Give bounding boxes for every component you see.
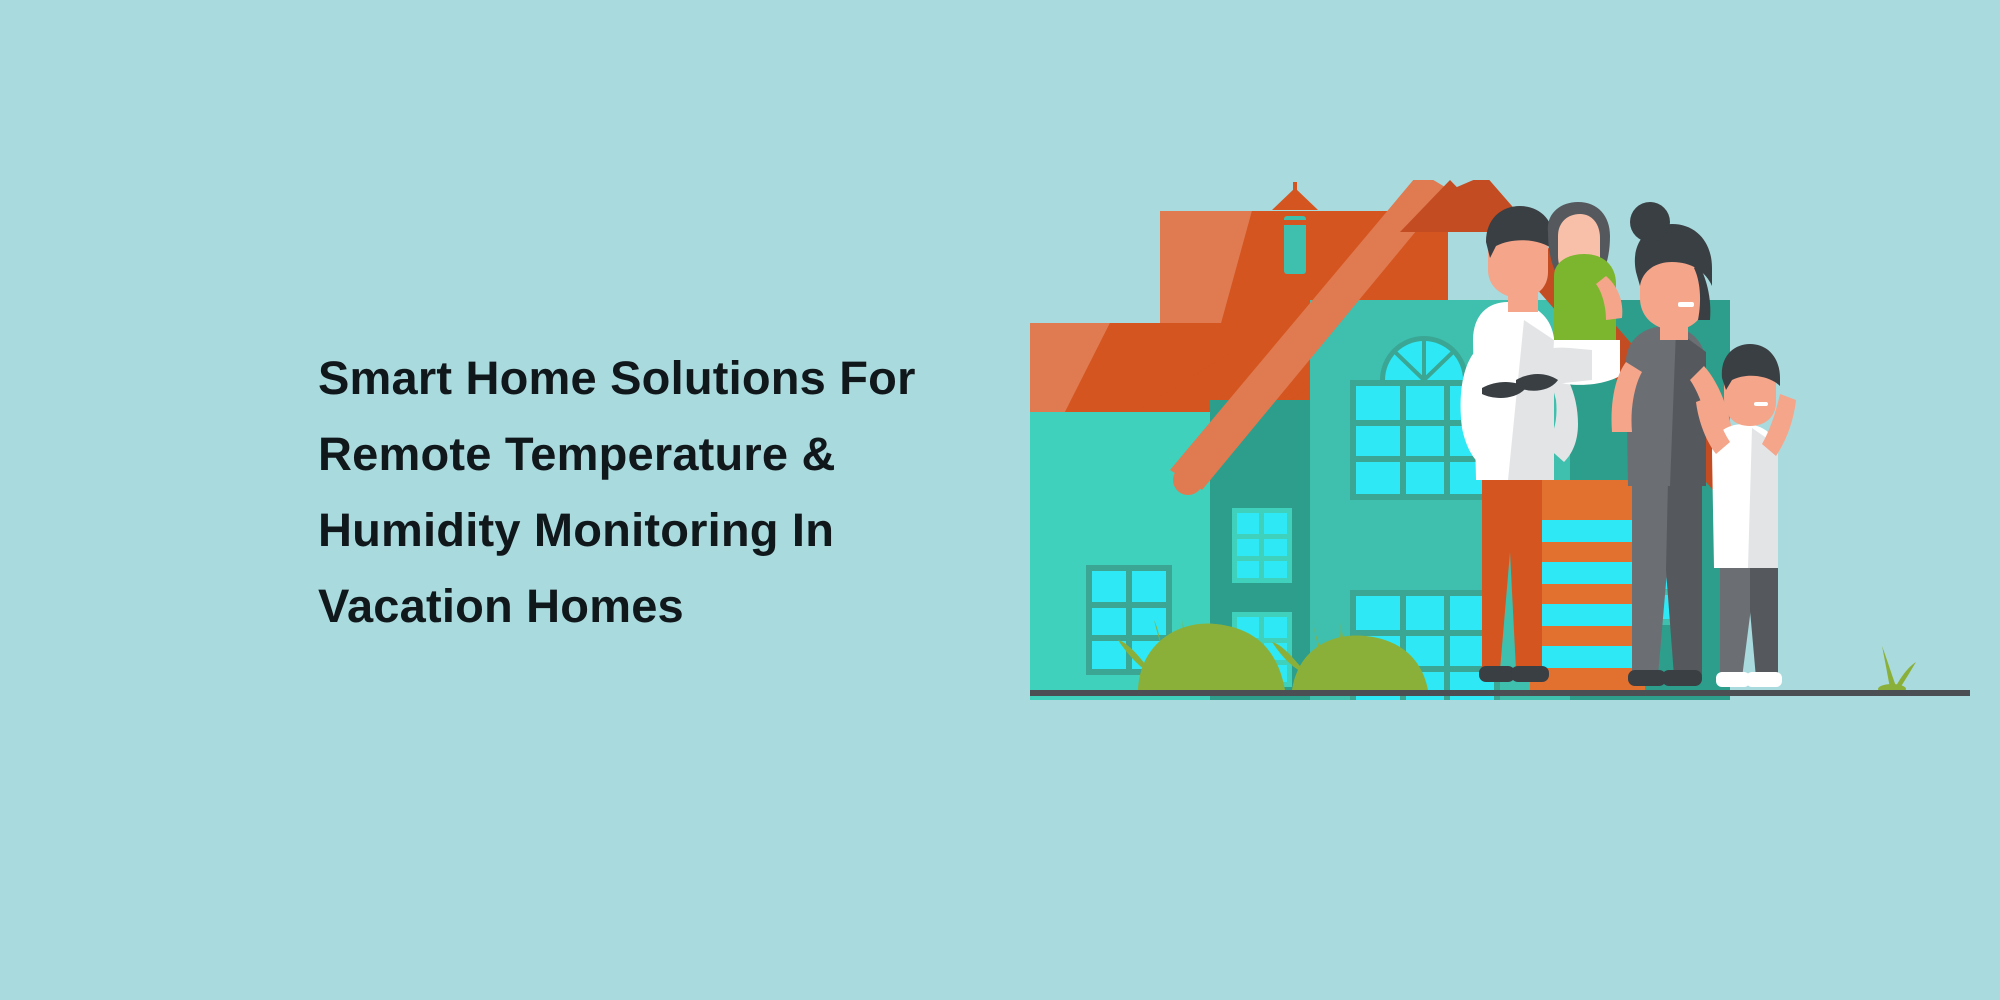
grass-tuft	[1878, 646, 1916, 694]
ground-line	[1030, 690, 1970, 696]
family-house-illustration	[1030, 180, 1980, 710]
page-title: Smart Home Solutions For Remote Temperat…	[318, 340, 1038, 645]
window-side-upper	[1232, 508, 1292, 583]
left-annex-roof	[1030, 323, 1235, 412]
banner-root: Smart Home Solutions For Remote Temperat…	[0, 0, 2000, 1000]
entry-door	[1530, 480, 1645, 695]
